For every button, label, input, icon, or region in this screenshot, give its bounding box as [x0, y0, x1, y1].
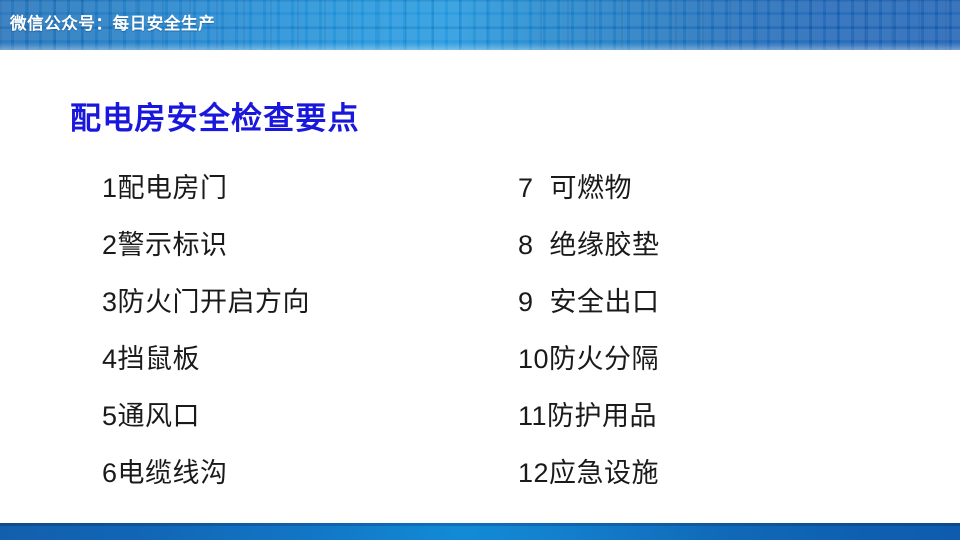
checklist-column-left: 1配电房门 2警示标识 3防火门开启方向 4挡鼠板 5通风口 6电缆线沟 — [102, 160, 310, 502]
list-item: 5通风口 — [102, 388, 310, 445]
wechat-account-label: 微信公众号：每日安全生产 — [10, 0, 215, 50]
footer-top-edge — [0, 523, 960, 526]
list-item: 3防火门开启方向 — [102, 274, 310, 331]
list-item: 12应急设施 — [518, 445, 660, 502]
list-item: 7 可燃物 — [518, 160, 660, 217]
list-item: 9 安全出口 — [518, 274, 660, 331]
list-item: 8 绝缘胶垫 — [518, 217, 660, 274]
presentation-slide: 微信公众号：每日安全生产 配电房安全检查要点 1配电房门 2警示标识 3防火门开… — [0, 0, 960, 540]
list-item: 1配电房门 — [102, 160, 310, 217]
header-band: 微信公众号：每日安全生产 — [0, 0, 960, 50]
list-item: 2警示标识 — [102, 217, 310, 274]
page-title: 配电房安全检查要点 — [70, 93, 360, 138]
list-item: 4挡鼠板 — [102, 331, 310, 388]
list-item: 11防护用品 — [518, 388, 660, 445]
checklist-column-right: 7 可燃物 8 绝缘胶垫 9 安全出口 10防火分隔 11防护用品 12应急设施 — [518, 160, 660, 502]
list-item: 10防火分隔 — [518, 331, 660, 388]
list-item: 6电缆线沟 — [102, 445, 310, 502]
